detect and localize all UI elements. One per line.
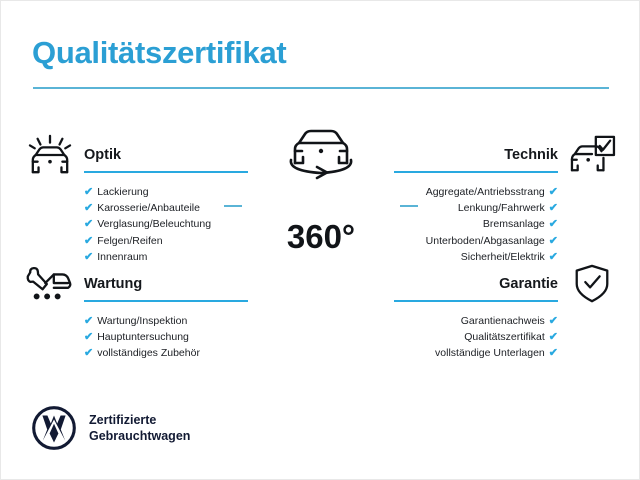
list-item: ✔Hauptuntersuchung [84, 329, 257, 345]
section-technik-title: Technik [504, 147, 558, 163]
list-item: vollständige Unterlagen✔ [385, 345, 558, 361]
car-checkbox-icon [567, 134, 617, 176]
list-item: ✔Lackierung [84, 184, 257, 200]
list-item: ✔Wartung/Inspektion [84, 313, 257, 329]
list-item-label: Bremsanlage [483, 218, 545, 230]
section-garantie-list: Garantienachweis✔ Qualitätszertifikat✔ v… [385, 309, 617, 362]
page-title: Qualitätszertifikat [32, 35, 286, 71]
car-rotate-360-icon [273, 127, 369, 183]
section-garantie-header: Garantie [385, 263, 617, 309]
section-wartung-list: ✔Wartung/Inspektion ✔Hauptuntersuchung ✔… [25, 309, 257, 362]
section-optik-list: ✔Lackierung ✔Karosserie/Anbauteile ✔Verg… [25, 180, 257, 265]
section-wartung-divider [84, 300, 248, 302]
title-divider [33, 87, 609, 89]
list-item-label: Verglasung/Beleuchtung [97, 218, 211, 230]
section-optik-divider [84, 171, 248, 173]
volkswagen-logo [32, 406, 76, 450]
car-shine-icon [25, 134, 75, 176]
section-technik-divider [394, 171, 558, 173]
badge-center-label: 360° [287, 218, 355, 255]
section-technik-list: Aggregate/Antriebsstrang✔ Lenkung/Fahrwe… [385, 180, 617, 265]
list-item: ✔Karosserie/Anbauteile [84, 200, 257, 216]
wrench-car-service-icon [25, 263, 75, 305]
section-technik-header: Technik [385, 134, 617, 180]
list-item-label: vollständiges Zubehör [97, 347, 200, 359]
footer-line-1: Zertifizierte [89, 412, 190, 428]
list-item-label: Hauptuntersuchung [97, 331, 189, 343]
list-item: Bremsanlage✔ [385, 216, 558, 232]
list-item-label: Innenraum [97, 251, 147, 263]
list-item: ✔Felgen/Reifen [84, 233, 257, 249]
check-icon: ✔ [84, 345, 93, 361]
check-icon: ✔ [549, 200, 558, 216]
check-icon: ✔ [549, 329, 558, 345]
check-icon: ✔ [84, 233, 93, 249]
section-technik: Technik Aggregate/Antriebsstrang✔ Lenkun… [385, 134, 617, 265]
check-icon: ✔ [549, 216, 558, 232]
list-item-label: Aggregate/Antriebsstrang [426, 186, 545, 198]
list-item-label: Sicherheit/Elektrik [461, 251, 545, 263]
list-item-label: Garantienachweis [461, 315, 545, 327]
list-item: ✔Verglasung/Beleuchtung [84, 216, 257, 232]
check-icon: ✔ [549, 345, 558, 361]
check-icon: ✔ [549, 233, 558, 249]
section-optik-header: Optik [25, 134, 257, 180]
list-item: Garantienachweis✔ [385, 313, 558, 329]
list-item: Aggregate/Antriebsstrang✔ [385, 184, 558, 200]
list-item-label: Unterboden/Abgasanlage [426, 235, 545, 247]
list-item: Unterboden/Abgasanlage✔ [385, 233, 558, 249]
section-garantie-divider [394, 300, 558, 302]
volkswagen-footer-text: Zertifizierte Gebrauchtwagen [89, 412, 190, 444]
check-icon: ✔ [84, 184, 93, 200]
check-icon: ✔ [549, 313, 558, 329]
list-item: Lenkung/Fahrwerk✔ [385, 200, 558, 216]
list-item: Qualitätszertifikat✔ [385, 329, 558, 345]
section-garantie: Garantie Garantienachweis✔ Qualitätszert… [385, 263, 617, 362]
check-icon: ✔ [84, 313, 93, 329]
list-item-label: Wartung/Inspektion [97, 315, 187, 327]
check-icon: ✔ [84, 329, 93, 345]
section-optik: Optik ✔Lackierung ✔Karosserie/Anbauteile… [25, 134, 257, 265]
list-item-label: Lenkung/Fahrwerk [458, 202, 545, 214]
section-wartung: Wartung ✔Wartung/Inspektion ✔Hauptunters… [25, 263, 257, 362]
list-item-label: Karosserie/Anbauteile [97, 202, 200, 214]
section-wartung-header: Wartung [25, 263, 257, 309]
section-garantie-title: Garantie [499, 276, 558, 292]
list-item-label: Qualitätszertifikat [464, 331, 545, 343]
list-item-label: Lackierung [97, 186, 148, 198]
section-wartung-title: Wartung [84, 276, 142, 292]
list-item-label: Felgen/Reifen [97, 235, 162, 247]
list-item: ✔vollständiges Zubehör [84, 345, 257, 361]
footer-line-2: Gebrauchtwagen [89, 428, 190, 444]
volkswagen-footer: Zertifizierte Gebrauchtwagen [32, 406, 190, 450]
list-item-label: vollständige Unterlagen [435, 347, 545, 359]
check-icon: ✔ [84, 200, 93, 216]
qualitaetszertifikat-page: Qualitätszertifikat [0, 0, 640, 480]
check-icon: ✔ [549, 184, 558, 200]
shield-check-icon [567, 263, 617, 305]
check-icon: ✔ [84, 216, 93, 232]
section-optik-title: Optik [84, 147, 121, 163]
